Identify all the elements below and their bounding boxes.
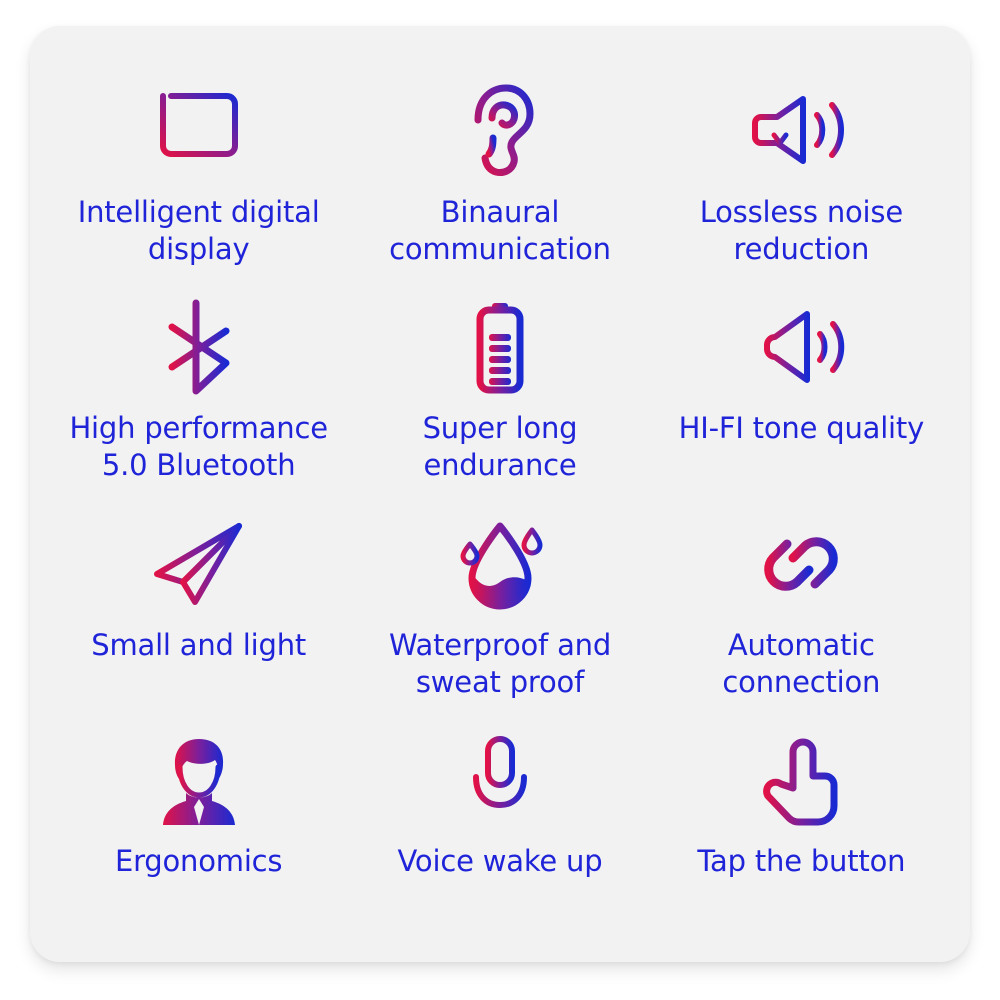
feature-item-super-long-endurance[interactable]: Super long endurance xyxy=(349,284,650,502)
feature-label: Intelligent digital display xyxy=(49,194,349,268)
feature-label: Ergonomics xyxy=(115,843,282,880)
bluetooth-icon xyxy=(150,294,248,400)
feature-item-voice-wake-up[interactable]: Voice wake up xyxy=(349,719,650,937)
monitor-chart-icon xyxy=(149,76,249,184)
feature-item-tap-the-button[interactable]: Tap the button xyxy=(651,719,952,937)
feature-label: Voice wake up xyxy=(398,843,603,880)
speaker-volume-icon xyxy=(753,294,849,400)
speaker-noise-reduction-icon xyxy=(747,76,855,184)
feature-label: Binaural communication xyxy=(350,194,650,268)
feature-card: Intelligent digital display Binaural com… xyxy=(30,26,970,962)
feature-grid: Intelligent digital display Binaural com… xyxy=(48,66,952,936)
ear-icon xyxy=(458,76,542,184)
feature-label: High performance 5.0 Bluetooth xyxy=(49,410,349,484)
paper-plane-icon xyxy=(147,511,251,617)
feature-item-waterproof[interactable]: Waterproof and sweat proof xyxy=(349,501,650,719)
feature-item-automatic-connection[interactable]: Automatic connection xyxy=(651,501,952,719)
feature-label: Lossless noise reduction xyxy=(651,194,951,268)
microphone-icon xyxy=(464,729,536,833)
feature-item-ergonomics[interactable]: Ergonomics xyxy=(48,719,349,937)
feature-item-hifi-tone-quality[interactable]: HI-FI tone quality xyxy=(651,284,952,502)
chain-link-icon xyxy=(747,511,855,617)
feature-item-lossless-noise-reduction[interactable]: Lossless noise reduction xyxy=(651,66,952,284)
tap-hand-icon xyxy=(759,729,843,833)
feature-label: Tap the button xyxy=(697,843,905,880)
person-suit-icon xyxy=(156,729,242,833)
feature-label: Automatic connection xyxy=(651,627,951,701)
feature-label: Waterproof and sweat proof xyxy=(350,627,650,701)
battery-icon xyxy=(471,294,529,400)
feature-label: HI-FI tone quality xyxy=(679,410,924,447)
feature-label: Small and light xyxy=(91,627,306,664)
feature-item-bluetooth[interactable]: High performance 5.0 Bluetooth xyxy=(48,284,349,502)
feature-item-intelligent-digital-display[interactable]: Intelligent digital display xyxy=(48,66,349,284)
feature-grid-page: Intelligent digital display Binaural com… xyxy=(0,0,1000,1000)
feature-label: Super long endurance xyxy=(350,410,650,484)
feature-item-binaural-communication[interactable]: Binaural communication xyxy=(349,66,650,284)
feature-item-small-and-light[interactable]: Small and light xyxy=(48,501,349,719)
water-drop-icon xyxy=(454,511,546,617)
